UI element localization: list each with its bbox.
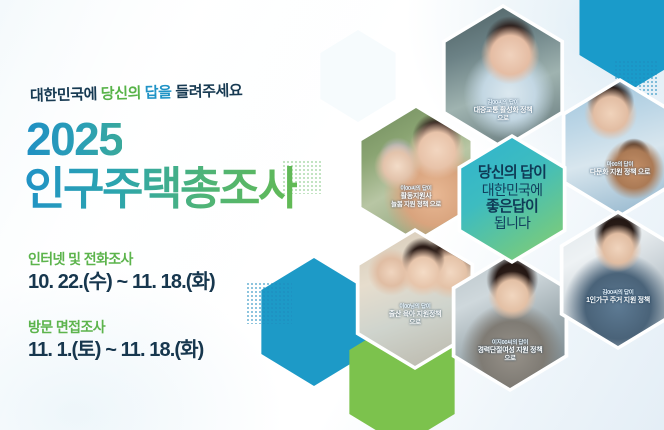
caption-line-3: 으로	[457, 355, 563, 363]
caption-line-2: 1인가구 주거 지원 정책	[565, 297, 664, 305]
caption-line-1: 김00씨의 답이	[565, 290, 664, 296]
photo-image-multicultural-family	[562, 82, 664, 214]
tagline-part-4: 들려주세요	[175, 82, 242, 101]
photo-image-single-household	[560, 214, 664, 346]
tagline-part-2: 당신의	[101, 85, 145, 103]
caption-line-2: 활동지원사	[363, 193, 469, 201]
photo-hexagon-bus-commuter: 김00씨의 답이 대중교통 활성화 정책 으로	[442, 8, 564, 146]
photo-image-bus-commuter	[442, 8, 564, 146]
schedule-label: 인터넷 및 전화조사	[28, 250, 215, 269]
page-title: 인구주택총조사	[24, 166, 297, 212]
caption-line-1: 이00씨의 답이	[363, 186, 469, 192]
schedule-in-person: 방문 면접조사 11. 1.(토) ~ 11. 18.(화)	[28, 318, 203, 364]
message-line-3: 좋은답이	[478, 198, 546, 215]
tagline-part-3: 답을	[145, 84, 176, 102]
decorative-hexagon-blue-top-right	[576, 0, 664, 88]
caption-line-1: 이지00씨의 답이	[457, 340, 563, 346]
census-poster: 김00씨의 답이 대중교통 활성화 정책 으로 이00씨의 답이 활동지원사 늘…	[0, 0, 664, 430]
message-hexagon-text: 당신의 답이 대한민국에 좋은답이 됩니다	[478, 164, 546, 233]
caption-line-2: 경력단절여성 지원 정책	[457, 347, 563, 355]
photo-caption-single-household: 김00씨의 답이 1인가구 주거 지원 정책	[560, 290, 664, 305]
photo-caption-elderly-care: 이00씨의 답이 활동지원사 늘봄 지원 정책 으로	[358, 186, 474, 209]
caption-line-2: 대중교통 활성화 정책	[447, 107, 559, 115]
photo-image-elderly-care	[358, 108, 474, 240]
message-line-1: 당신의 답이	[478, 164, 546, 181]
schedule-internet-phone: 인터넷 및 전화조사 10. 22.(수) ~ 11. 18.(화)	[28, 250, 215, 296]
caption-line-2: 다문화 지원 정책 으로	[567, 169, 664, 177]
schedule-label: 방문 면접조사	[28, 318, 203, 337]
photo-caption-career-woman: 이지00씨의 답이 경력단절여성 지원 정책 으로	[452, 340, 568, 363]
poster-tagline: 대한민국에 당신의 답을 들려주세요	[30, 79, 243, 105]
schedule-dates: 10. 22.(수) ~ 11. 18.(화)	[28, 269, 215, 296]
schedule-dates: 11. 1.(토) ~ 11. 18.(화)	[28, 337, 203, 364]
caption-line-1: 마00의 답이	[567, 162, 664, 168]
caption-line-1: 김00씨의 답이	[447, 100, 559, 106]
message-line-4: 됩니다	[478, 215, 546, 231]
message-line-2: 대한민국에	[478, 182, 546, 198]
tagline-part-1: 대한민국에	[30, 86, 101, 105]
caption-line-3: 으로	[447, 115, 559, 123]
photo-hexagon-multicultural-family: 마00의 답이 다문화 지원 정책 으로	[562, 82, 664, 214]
photo-hexagon-single-household: 김00씨의 답이 1인가구 주거 지원 정책	[560, 214, 664, 346]
photo-caption-bus-commuter: 김00씨의 답이 대중교통 활성화 정책 으로	[442, 100, 564, 123]
census-year: 2025	[26, 116, 122, 162]
photo-hexagon-elderly-care: 이00씨의 답이 활동지원사 늘봄 지원 정책 으로	[358, 108, 474, 240]
photo-caption-multicultural-family: 마00의 답이 다문화 지원 정책 으로	[562, 162, 664, 177]
decorative-hexagon-white	[318, 30, 398, 122]
caption-line-3: 늘봄 지원 정책 으로	[363, 201, 469, 209]
